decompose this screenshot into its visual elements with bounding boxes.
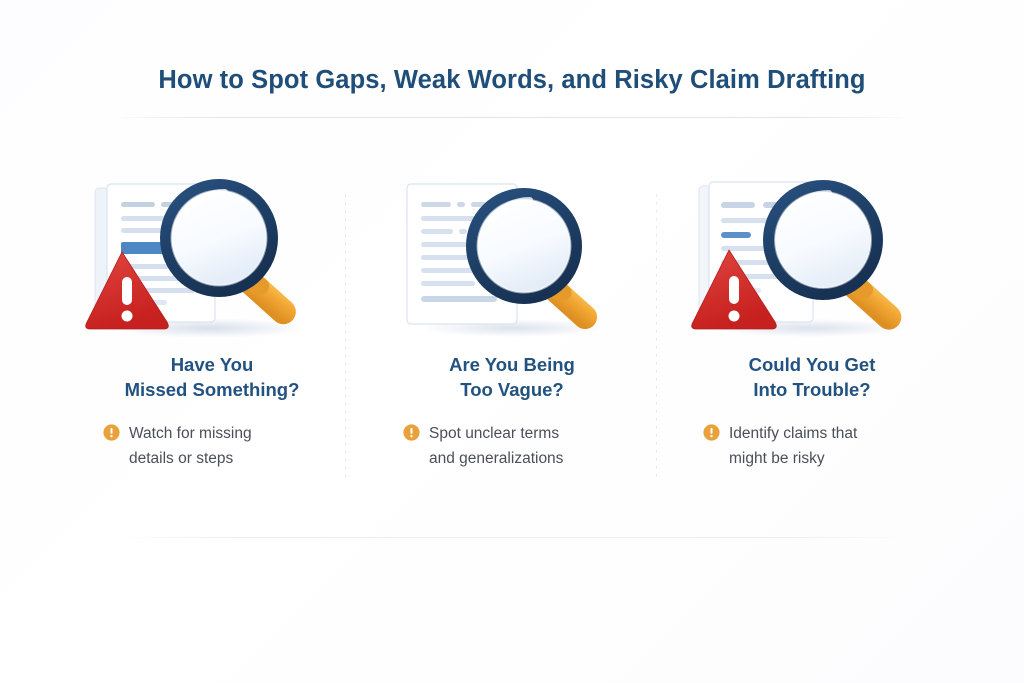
magnifier-icon: $ [763,180,883,300]
infographic-canvas: How to Spot Gaps, Weak Words, and Risky … [0,0,1024,683]
column-into-trouble: $ Could You Get Into Trouble? [662,176,962,496]
bullet-row: Identify claims that might be risky [697,421,927,471]
columns-container: Have You Missed Something? Watch for mis… [62,176,962,496]
bullet-text: Spot unclear terms and generalizations [429,421,563,471]
column-too-vague: vague Are You Being Too Vague? [362,176,662,496]
column-heading-line1: Are You Being [449,354,575,375]
bottom-divider [130,537,894,538]
column-heading-line1: Could You Get [749,354,876,375]
exclamation-circle-icon [703,424,720,441]
bullet-text-line1: Watch for missing [129,425,252,442]
document-magnifier-vague-illustration: vague [377,176,647,344]
magnifier-icon [160,179,278,297]
magnifier-icon: vague [466,188,582,304]
title-divider [122,117,902,118]
bullet-text-line1: Identify claims that [729,425,857,442]
column-heading: Have You Missed Something? [77,352,347,403]
bullet-row: Watch for missing details or steps [97,421,327,471]
column-heading-line2: Into Trouble? [753,379,870,400]
column-heading: Could You Get Into Trouble? [677,352,947,403]
exclamation-circle-icon [103,424,120,441]
column-missed-something: Have You Missed Something? Watch for mis… [62,176,362,496]
document-magnifier-bomb-illustration: $ [677,176,947,344]
bullet-row: Spot unclear terms and generalizations [397,421,627,471]
bullet-text: Watch for missing details or steps [129,421,252,471]
column-heading: Are You Being Too Vague? [377,352,647,403]
bullet-text: Identify claims that might be risky [729,421,857,471]
document-magnifier-warning-illustration [77,176,347,344]
exclamation-circle-icon [403,424,420,441]
bullet-text-line2: details or steps [129,450,233,467]
column-heading-line2: Missed Something? [125,379,300,400]
column-heading-line1: Have You [171,354,254,375]
column-heading-line2: Too Vague? [460,379,563,400]
page-title-container: How to Spot Gaps, Weak Words, and Risky … [0,66,1024,95]
bullet-text-line2: and generalizations [429,450,563,467]
bullet-text-line2: might be risky [729,450,825,467]
page-title: How to Spot Gaps, Weak Words, and Risky … [0,66,1024,95]
bullet-text-line1: Spot unclear terms [429,425,559,442]
